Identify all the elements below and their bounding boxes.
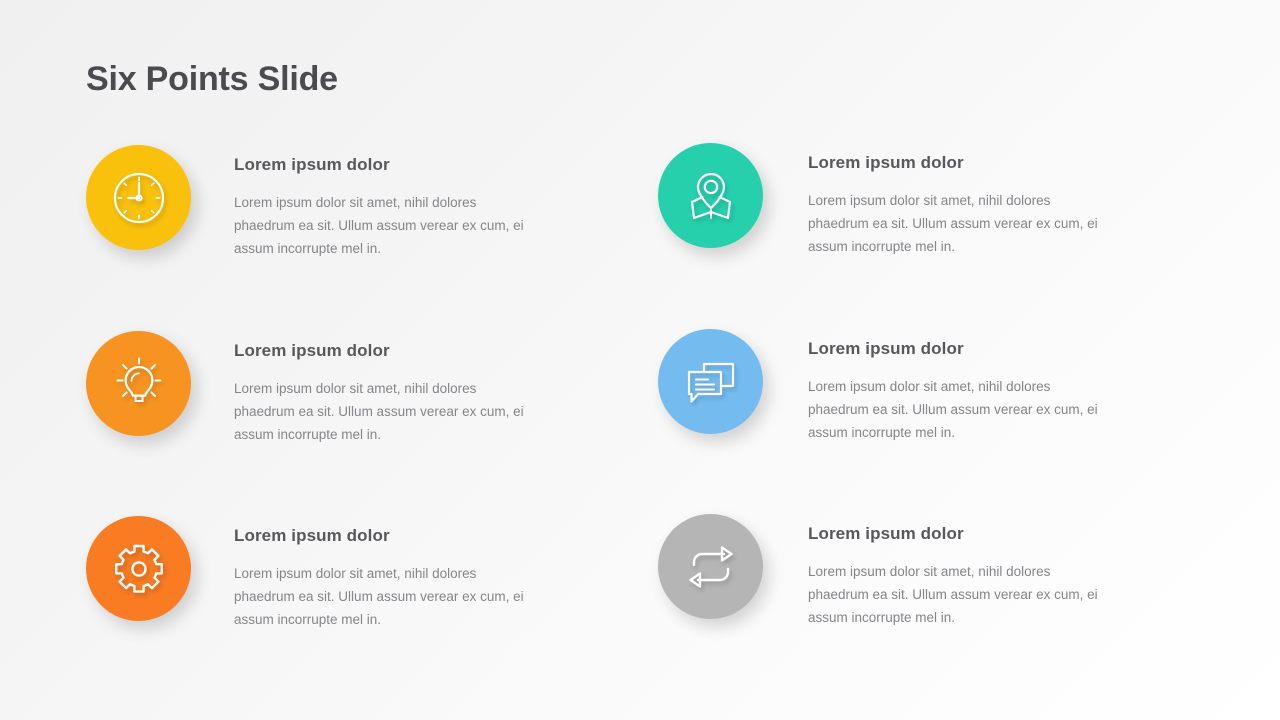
- icon-circle-lightbulb[interactable]: [86, 331, 191, 436]
- point-body-6: Lorem ipsum dolor sit amet, nihil dolore…: [808, 560, 1108, 629]
- point-text-3: Lorem ipsum dolor Lorem ipsum dolor sit …: [234, 331, 554, 446]
- slide-canvas: Six Points Slide: [0, 0, 1280, 720]
- point-item-2[interactable]: Lorem ipsum dolor Lorem ipsum dolor sit …: [658, 143, 1128, 258]
- point-heading-6: Lorem ipsum dolor: [808, 524, 1128, 544]
- icon-circle-gear[interactable]: [86, 516, 191, 621]
- points-grid: Lorem ipsum dolor Lorem ipsum dolor sit …: [0, 132, 1280, 692]
- point-text-1: Lorem ipsum dolor Lorem ipsum dolor sit …: [234, 145, 554, 260]
- point-text-6: Lorem ipsum dolor Lorem ipsum dolor sit …: [808, 514, 1128, 629]
- icon-circle-chat[interactable]: [658, 329, 763, 434]
- point-body-4: Lorem ipsum dolor sit amet, nihil dolore…: [808, 375, 1108, 444]
- point-item-3[interactable]: Lorem ipsum dolor Lorem ipsum dolor sit …: [86, 331, 556, 446]
- point-heading-3: Lorem ipsum dolor: [234, 341, 554, 361]
- icon-circle-loop[interactable]: [658, 514, 763, 619]
- point-heading-1: Lorem ipsum dolor: [234, 155, 554, 175]
- point-heading-4: Lorem ipsum dolor: [808, 339, 1128, 359]
- point-body-2: Lorem ipsum dolor sit amet, nihil dolore…: [808, 189, 1108, 258]
- point-item-1[interactable]: Lorem ipsum dolor Lorem ipsum dolor sit …: [86, 145, 556, 260]
- point-body-5: Lorem ipsum dolor sit amet, nihil dolore…: [234, 562, 534, 631]
- lightbulb-icon: [109, 354, 169, 414]
- point-text-2: Lorem ipsum dolor Lorem ipsum dolor sit …: [808, 143, 1128, 258]
- point-text-4: Lorem ipsum dolor Lorem ipsum dolor sit …: [808, 329, 1128, 444]
- point-body-3: Lorem ipsum dolor sit amet, nihil dolore…: [234, 377, 534, 446]
- icon-circle-map-pin[interactable]: [658, 143, 763, 248]
- icon-circle-clock[interactable]: [86, 145, 191, 250]
- point-item-5[interactable]: Lorem ipsum dolor Lorem ipsum dolor sit …: [86, 516, 556, 631]
- point-text-5: Lorem ipsum dolor Lorem ipsum dolor sit …: [234, 516, 554, 631]
- point-heading-2: Lorem ipsum dolor: [808, 153, 1128, 173]
- point-item-4[interactable]: Lorem ipsum dolor Lorem ipsum dolor sit …: [658, 329, 1128, 444]
- gear-icon: [109, 539, 169, 599]
- point-body-1: Lorem ipsum dolor sit amet, nihil dolore…: [234, 191, 534, 260]
- point-heading-5: Lorem ipsum dolor: [234, 526, 554, 546]
- page-title: Six Points Slide: [86, 56, 338, 102]
- loop-arrows-icon: [681, 537, 741, 597]
- point-item-6[interactable]: Lorem ipsum dolor Lorem ipsum dolor sit …: [658, 514, 1128, 629]
- chat-bubbles-icon: [681, 352, 741, 412]
- clock-icon: [109, 168, 169, 228]
- map-pin-icon: [681, 166, 741, 226]
